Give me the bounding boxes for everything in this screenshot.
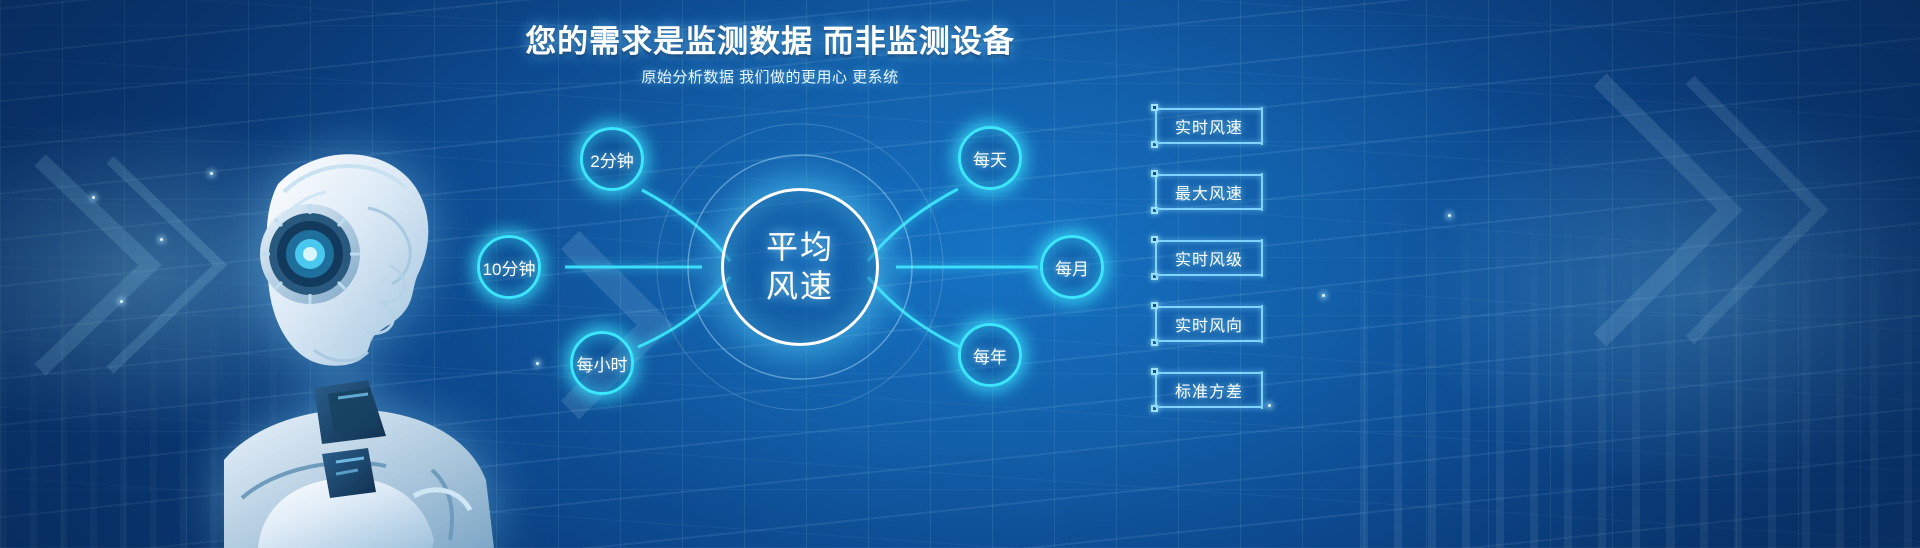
metric-label-realtime-wind-speed[interactable]: 实时风速	[1155, 108, 1263, 144]
node-label: 每天	[973, 146, 1007, 171]
metric-label-text: 实时风速	[1175, 114, 1243, 138]
node-label: 10分钟	[483, 255, 536, 280]
metric-label-text: 标准方差	[1175, 378, 1243, 402]
node-2-minutes[interactable]: 2分钟	[580, 127, 644, 191]
mindmap-diagram: 平均 风速 2分钟 10分钟 每小时 每天 每月 每年	[440, 95, 1240, 445]
node-daily[interactable]: 每天	[958, 126, 1022, 190]
node-hourly[interactable]: 每小时	[570, 331, 634, 395]
metric-label-text: 实时风向	[1175, 312, 1243, 336]
metric-label-list: 实时风速 最大风速 实时风级 实时风向 标准方差	[1155, 108, 1275, 438]
metric-label-max-wind-speed[interactable]: 最大风速	[1155, 174, 1263, 210]
metric-label-text: 实时风级	[1175, 246, 1243, 270]
metric-label-text: 最大风速	[1175, 180, 1243, 204]
page-subtitle: 原始分析数据 我们做的更用心 更系统	[0, 66, 1540, 87]
page-title: 您的需求是监测数据 而非监测设备	[0, 16, 1540, 61]
node-label: 每年	[973, 343, 1007, 368]
metric-label-standard-deviation[interactable]: 标准方差	[1155, 372, 1263, 408]
banner-stage: 您的需求是监测数据 而非监测设备 原始分析数据 我们做的更用心 更系统	[0, 0, 1920, 548]
node-10-minutes[interactable]: 10分钟	[477, 235, 541, 299]
node-label: 2分钟	[590, 147, 633, 172]
node-monthly[interactable]: 每月	[1040, 235, 1104, 299]
node-yearly[interactable]: 每年	[958, 323, 1022, 387]
center-node-line2: 风速	[766, 268, 834, 305]
center-node-line1: 平均	[766, 229, 834, 266]
metric-label-realtime-wind-direction[interactable]: 实时风向	[1155, 306, 1263, 342]
center-node-average-wind-speed[interactable]: 平均 风速	[721, 188, 879, 346]
metric-label-realtime-wind-scale[interactable]: 实时风级	[1155, 240, 1263, 276]
node-label: 每月	[1055, 255, 1089, 280]
node-label: 每小时	[577, 351, 628, 376]
